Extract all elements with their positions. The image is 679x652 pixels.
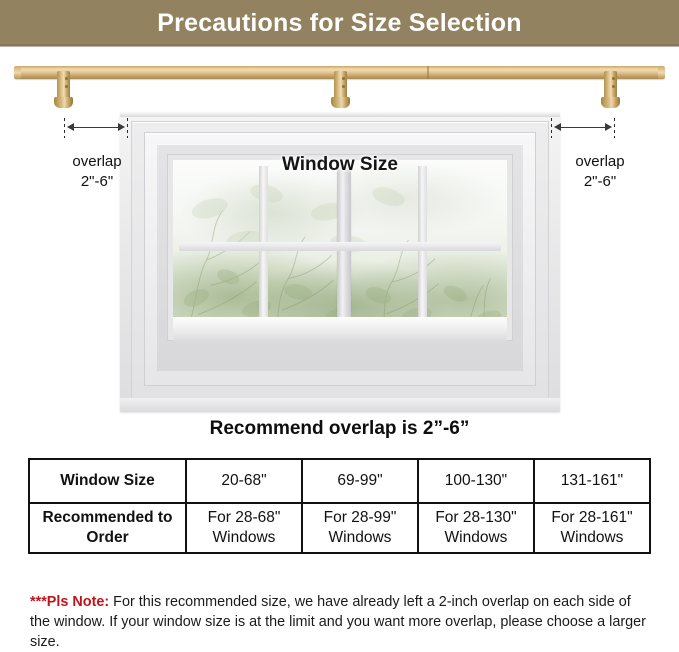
- table-cell: For 28-99" Windows: [302, 503, 418, 553]
- table-row: Recommended to Order For 28-68" Windows …: [29, 503, 650, 553]
- window-jamb: [157, 144, 523, 371]
- dimension-line-right: [551, 118, 615, 138]
- curtain-rod-assembly: [0, 46, 679, 116]
- size-recommendation-table: Window Size 20-68" 69-99" 100-130" 131-1…: [28, 458, 651, 554]
- window-casing-outer: [120, 112, 560, 412]
- table-cell: For 28-68" Windows: [186, 503, 302, 553]
- page-title: Precautions for Size Selection: [157, 9, 521, 38]
- dimension-rule: [70, 127, 122, 128]
- dimension-line-left: [64, 118, 128, 138]
- overlap-right-title: overlap: [545, 152, 655, 172]
- bracket-foot: [331, 97, 350, 108]
- bracket-screw: [612, 85, 615, 88]
- overlap-left-value: 2"-6": [42, 172, 152, 192]
- please-note-text: ***Pls Note: For this recommended size, …: [30, 592, 650, 652]
- bracket-foot: [54, 97, 73, 108]
- window-apron: [120, 398, 560, 412]
- dimension-rule: [557, 127, 609, 128]
- window-sash: [167, 154, 513, 341]
- bracket-screw: [612, 77, 615, 80]
- rod-end-cap-right: [658, 66, 665, 79]
- table-row-header: Window Size: [29, 459, 186, 503]
- bracket-screw: [342, 85, 345, 88]
- table-cell: For 28-161" Windows: [534, 503, 650, 553]
- table-cell: For 28-130" Windows: [418, 503, 534, 553]
- arrow-left-icon: [67, 123, 74, 131]
- recommend-overlap-text: Recommend overlap is 2”-6”: [0, 418, 679, 440]
- bracket-screw: [65, 77, 68, 80]
- rod-seam: [427, 66, 429, 79]
- table-cell: 131-161": [534, 459, 650, 503]
- dimension-tick: [551, 118, 552, 138]
- table-cell: 100-130": [418, 459, 534, 503]
- overlap-label-right: overlap 2"-6": [545, 152, 655, 192]
- window-casing-mid: [132, 122, 548, 398]
- window-casing-inner: [145, 133, 535, 385]
- table-row-header: Recommended to Order: [29, 503, 186, 553]
- overlap-left-title: overlap: [42, 152, 152, 172]
- overlap-right-value: 2"-6": [545, 172, 655, 192]
- window-glass: [173, 160, 507, 335]
- arrow-left-icon: [554, 123, 561, 131]
- window-illustration: Window Size: [120, 112, 560, 412]
- bracket-screw: [65, 85, 68, 88]
- note-prefix: ***Pls Note:: [30, 594, 109, 610]
- rod-bracket-center: [330, 71, 351, 108]
- window-mullion-horizontal: [179, 242, 501, 251]
- dimension-tick: [64, 118, 65, 138]
- table-cell: 20-68": [186, 459, 302, 503]
- table-cell: 69-99": [302, 459, 418, 503]
- arrow-right-icon: [118, 123, 125, 131]
- bracket-screw: [342, 77, 345, 80]
- dimension-tick: [127, 118, 128, 138]
- overlap-label-left: overlap 2"-6": [42, 152, 152, 192]
- header-banner: Precautions for Size Selection: [0, 0, 679, 46]
- rod-bracket-left: [53, 71, 74, 108]
- bracket-foot: [601, 97, 620, 108]
- rod-bracket-right: [600, 71, 621, 108]
- arrow-right-icon: [605, 123, 612, 131]
- table-row: Window Size 20-68" 69-99" 100-130" 131-1…: [29, 459, 650, 503]
- note-body: For this recommended size, we have alrea…: [30, 594, 646, 650]
- window-sill: [173, 317, 507, 341]
- dimension-tick: [614, 118, 615, 138]
- rod-end-cap-left: [14, 66, 21, 79]
